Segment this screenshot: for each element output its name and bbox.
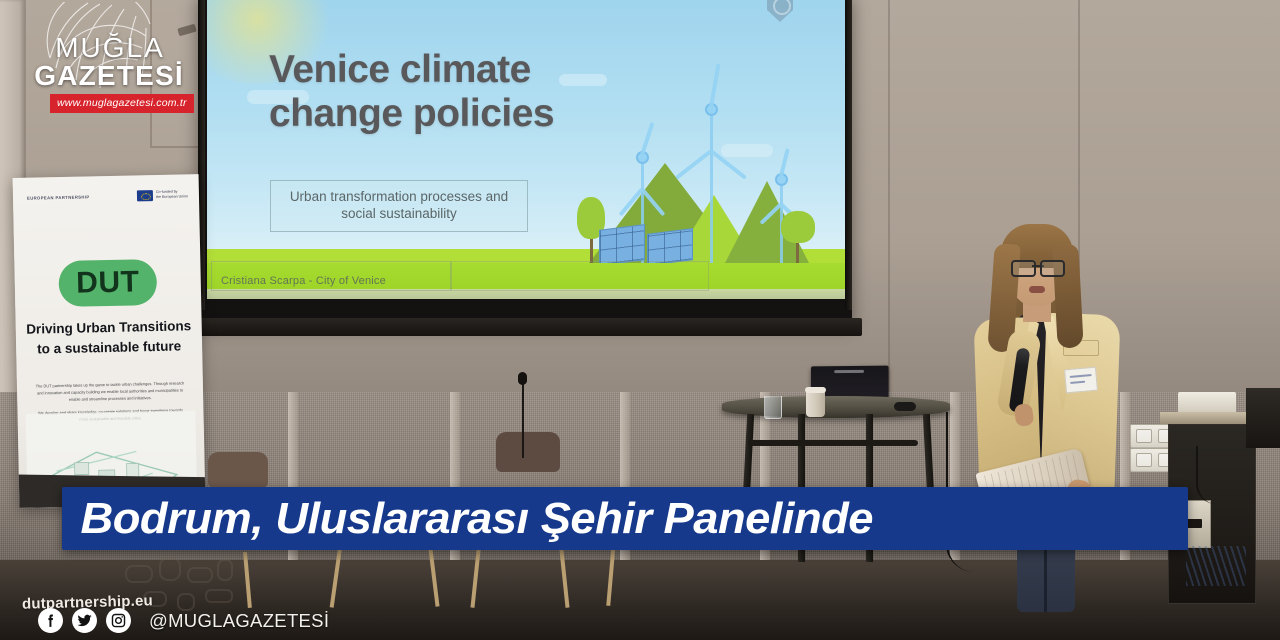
slide-subtitle-line1: Urban transformation processes and <box>290 189 508 204</box>
solar-panel <box>599 224 645 266</box>
coffee-cup <box>806 390 825 417</box>
wall-seam <box>888 0 890 400</box>
slide-subtitle-box: Urban transformation processes and socia… <box>270 180 528 232</box>
news-photo-card: Venice climate change policies Urban tra… <box>0 0 1280 640</box>
slide-title: Venice climate change policies <box>269 48 689 135</box>
twitter-icon[interactable] <box>72 608 97 633</box>
microphone-stand <box>522 378 524 458</box>
slide-footer-credit: Cristiana Scarpa - City of Venice <box>221 275 386 287</box>
tree-crown <box>781 211 815 243</box>
loudspeaker-box <box>1246 388 1280 448</box>
publisher-watermark: MUĞLA GAZETESİ www.muglagazetesi.com.tr <box>22 2 192 120</box>
eu-partnership-label: EUROPEAN PARTNERSHIP <box>27 194 90 200</box>
eu-flag-icon <box>137 190 153 201</box>
dut-tagline: Driving Urban Transitions to a sustainab… <box>16 316 203 359</box>
water-glass <box>764 396 782 419</box>
facebook-icon[interactable] <box>38 608 63 633</box>
projection-screen-bottom-bar <box>190 318 862 336</box>
headline-text: Bodrum, Uluslararası Şehir Panelinde <box>62 494 873 544</box>
mouth <box>1029 286 1045 293</box>
slide-subtitle-line2: social sustainability <box>341 206 457 221</box>
dut-tagline-line2: to a sustainable future <box>16 336 202 359</box>
social-media-bar: @MUGLAGAZETESİ <box>38 608 329 633</box>
equipment-shelf <box>1160 412 1260 424</box>
slide-subtitle: Urban transformation processes and socia… <box>277 189 521 223</box>
slide-title-line1: Venice climate <box>269 48 689 92</box>
hanging-cable <box>1196 446 1216 504</box>
chair-backrest <box>496 432 560 472</box>
dut-logo-text: DUT <box>58 259 157 307</box>
brand-website-url: www.muglagazetesi.com.tr <box>50 94 194 113</box>
eu-funding-line1: Co-funded by <box>156 190 178 194</box>
chair-backrest <box>208 452 268 488</box>
slide-footer-box-right <box>451 261 709 291</box>
computer-mouse <box>894 402 916 411</box>
cloud-shape <box>721 144 773 157</box>
eu-funding-line2: the European Union <box>156 195 188 200</box>
instagram-icon[interactable] <box>106 608 131 633</box>
cable-bundle <box>1186 546 1246 586</box>
name-badge <box>1064 367 1098 394</box>
equipment-box <box>1178 392 1236 414</box>
headline-banner: Bodrum, Uluslararası Şehir Panelinde <box>62 487 1188 550</box>
brand-name-line2: GAZETESİ <box>34 60 184 92</box>
dut-body-paragraph1: The DUT partnership takes up the game to… <box>35 380 185 404</box>
microphone-head-icon <box>518 372 527 385</box>
city-crest-icon <box>767 0 793 22</box>
table-crossbar <box>748 440 918 446</box>
eyeglasses-icon <box>1011 260 1065 273</box>
eu-funding-text: Co-funded by the European Union <box>156 189 191 201</box>
wind-turbine <box>705 103 717 263</box>
dut-logo: DUT <box>58 259 157 307</box>
social-handle: @MUGLAGAZETESİ <box>149 610 329 632</box>
presentation-slide: Venice climate change policies Urban tra… <box>207 0 845 299</box>
dut-rollup-banner: EUROPEAN PARTNERSHIP Co-funded by the Eu… <box>13 174 206 508</box>
slide-title-line2: change policies <box>269 92 689 136</box>
screen-edge-right <box>845 0 852 310</box>
